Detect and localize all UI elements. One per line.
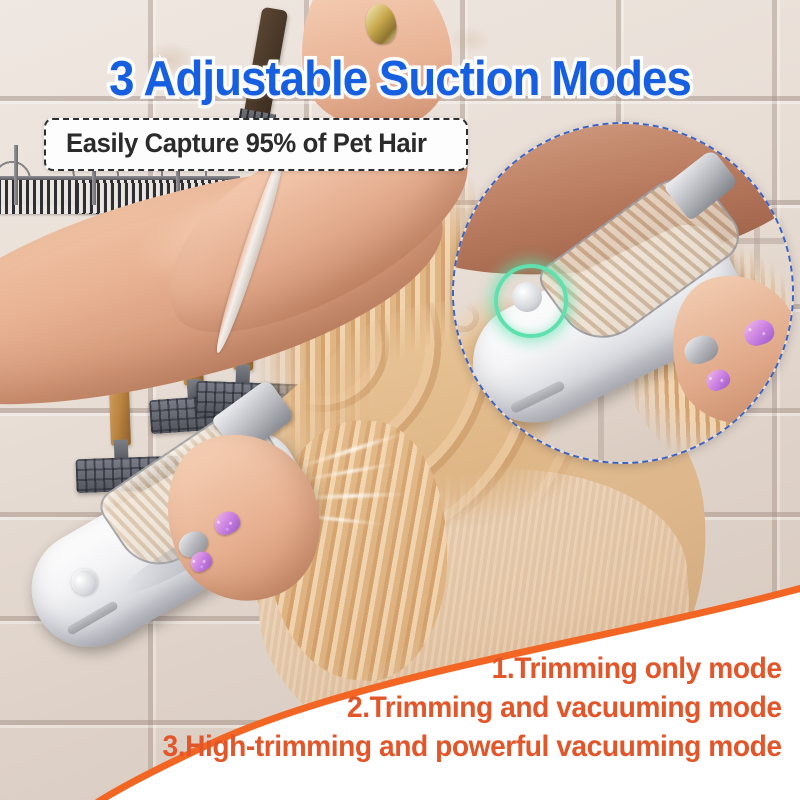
subtitle-text: Easily Capture 95% of Pet Hair xyxy=(66,127,427,160)
power-button-icon xyxy=(512,282,542,312)
page-title: 3 Adjustable Suction Modes xyxy=(28,50,772,108)
rack-post xyxy=(14,145,18,205)
product-marketing-poster: 3 Adjustable Suction Modes Easily Captur… xyxy=(0,0,800,800)
mode-item-1: 1.Trimming only mode xyxy=(163,649,782,688)
mode-item-3: 3.High-trimming and powerful vacuuming m… xyxy=(163,727,782,766)
subtitle-callout-box: Easily Capture 95% of Pet Hair xyxy=(44,118,468,171)
mode-item-2: 2.Trimming and vacuuming mode xyxy=(163,688,782,727)
suction-modes-list: 1.Trimming only mode 2.Trimming and vacu… xyxy=(123,649,782,766)
power-button-glow-highlight xyxy=(494,264,568,338)
